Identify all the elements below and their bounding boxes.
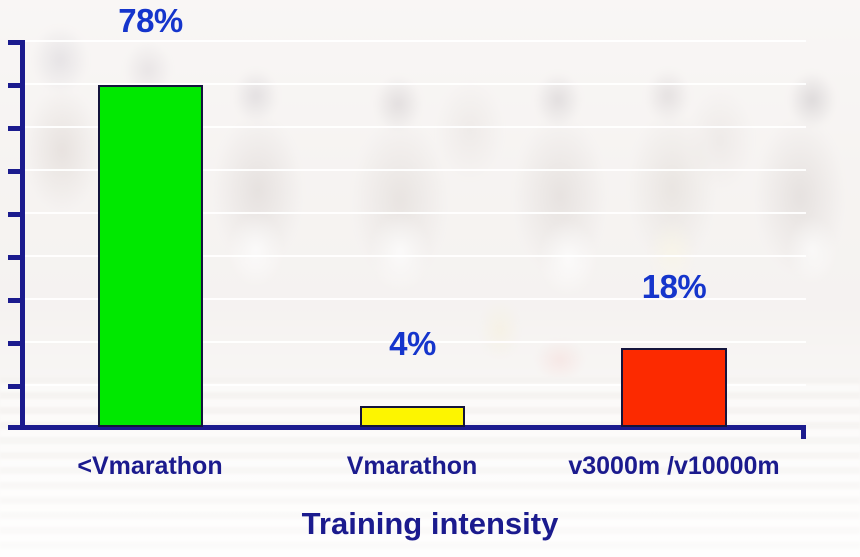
category-label-2: Vmarathon xyxy=(292,452,532,481)
value-label-bar-2: 4% xyxy=(360,325,465,363)
value-label-bar-1: 78% xyxy=(98,2,203,40)
bar-v3000m-v10000m[interactable] xyxy=(621,348,727,427)
y-axis-tick xyxy=(8,341,25,346)
y-axis-tick xyxy=(8,212,25,217)
category-label-1: <Vmarathon xyxy=(30,452,270,481)
x-axis-endcap xyxy=(801,425,806,439)
y-axis-tick xyxy=(8,298,25,303)
y-axis-tick xyxy=(8,169,25,174)
y-axis-tick xyxy=(8,255,25,260)
bar-vmarathon[interactable] xyxy=(360,406,465,427)
bar-chart: 78% 4% 18% <Vmarathon Vmarathon v3000m /… xyxy=(0,0,860,557)
slide-canvas: 78% 4% 18% <Vmarathon Vmarathon v3000m /… xyxy=(0,0,860,557)
y-axis-tick xyxy=(8,384,25,389)
y-axis-line xyxy=(20,40,25,430)
y-axis-tick xyxy=(8,40,25,45)
y-axis-tick xyxy=(8,83,25,88)
x-axis-title: Training intensity xyxy=(0,506,860,542)
value-label-bar-3: 18% xyxy=(621,268,727,306)
y-axis-tick xyxy=(8,126,25,131)
bar-vmarathon-below[interactable] xyxy=(98,85,203,427)
category-label-3: v3000m /v10000m xyxy=(554,452,794,481)
gridline xyxy=(20,40,806,42)
